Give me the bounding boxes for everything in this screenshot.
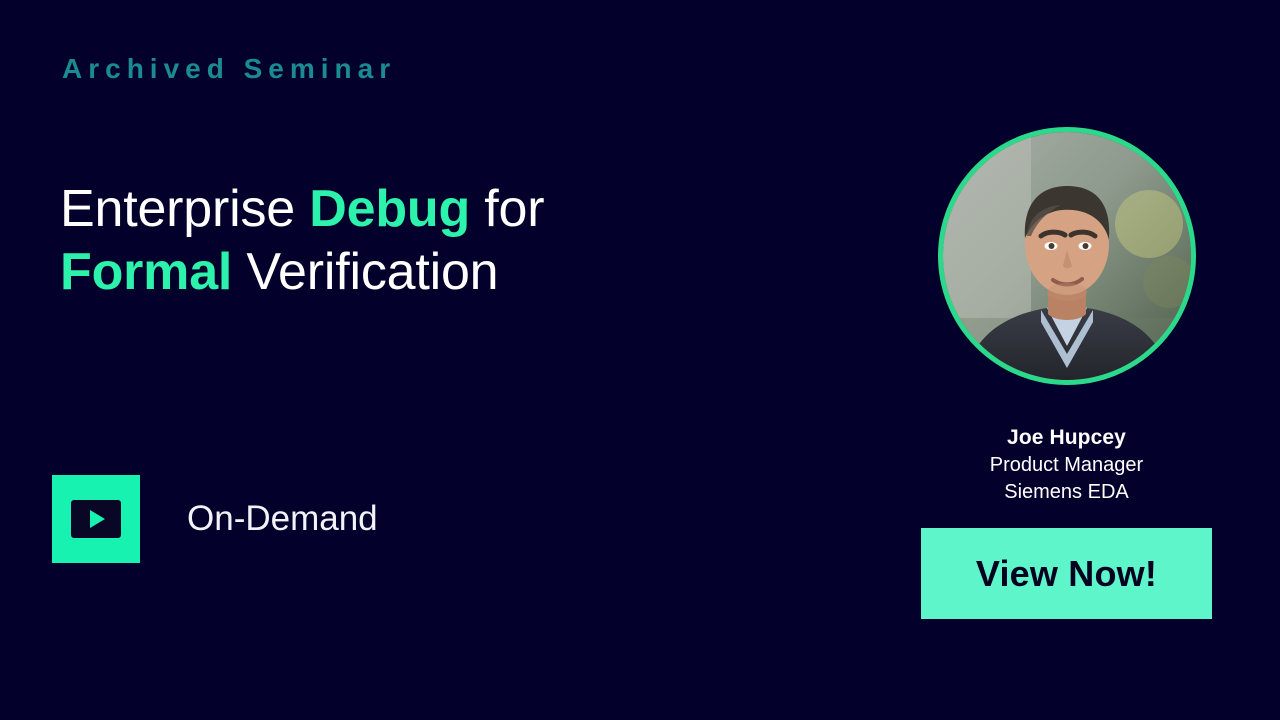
page-title: Enterprise Debug forFormal Verification — [60, 178, 700, 305]
title-text-enterprise: Enterprise — [60, 180, 309, 238]
speaker-role: Product Manager — [990, 452, 1143, 479]
speaker-name: Joe Hupcey — [990, 424, 1143, 452]
speaker-details: Joe Hupcey Product Manager Siemens EDA — [990, 424, 1143, 506]
view-now-button[interactable]: View Now! — [921, 528, 1212, 619]
seminar-promo-slide: Archived Seminar Enterprise Debug forFor… — [0, 0, 1280, 720]
title-line-1: Enterprise Debug for — [60, 180, 544, 238]
avatar — [938, 127, 1196, 385]
eyebrow-label: Archived Seminar — [62, 54, 396, 85]
speaker-panel: Joe Hupcey Product Manager Siemens EDA V… — [921, 127, 1212, 619]
speaker-organization: Siemens EDA — [990, 479, 1143, 506]
availability-row: On-Demand — [52, 475, 378, 563]
availability-label: On-Demand — [187, 499, 378, 539]
title-highlight-formal: Formal — [60, 243, 232, 301]
play-triangle-icon — [90, 510, 105, 528]
video-play-icon[interactable] — [52, 475, 140, 563]
title-text-for: for — [470, 180, 544, 238]
title-text-verification: Verification — [232, 243, 498, 301]
title-highlight-debug: Debug — [309, 180, 470, 238]
title-line-2: Formal Verification — [60, 243, 498, 301]
video-play-icon-screen — [71, 500, 121, 538]
